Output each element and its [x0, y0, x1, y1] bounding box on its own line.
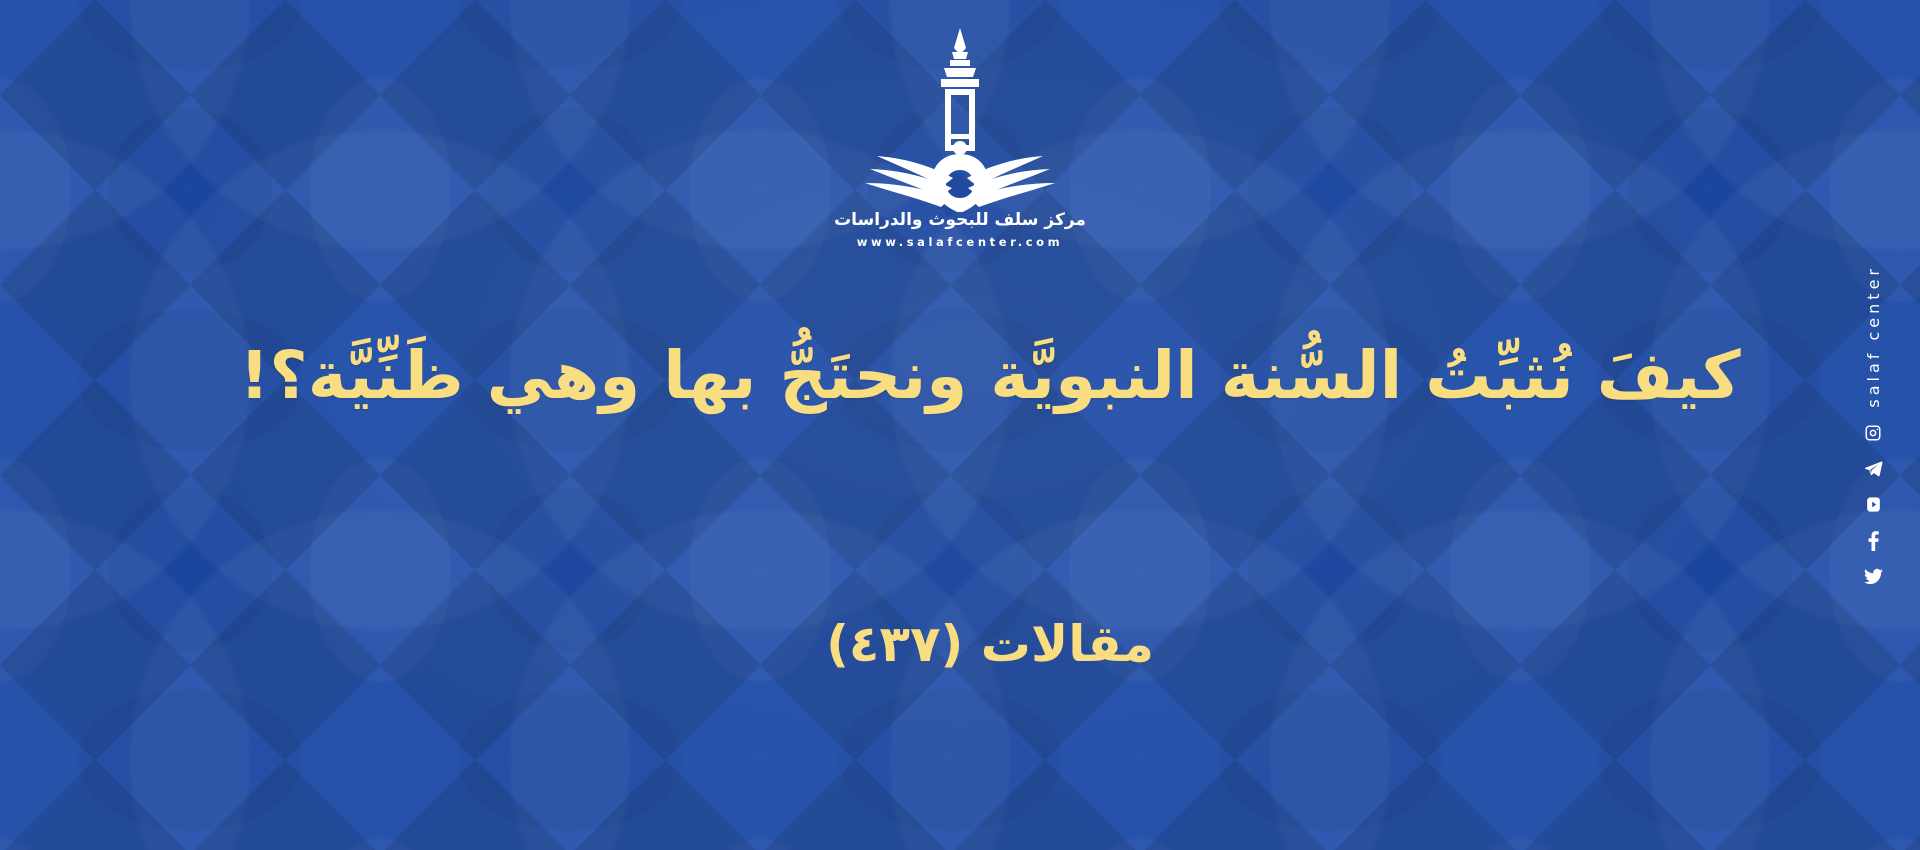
brand-url: www.salafcenter.com: [857, 235, 1063, 249]
minaret-pen-open-book-logo-icon: [835, 22, 1085, 212]
social-icon-list: [1864, 424, 1883, 585]
article-subtitle: مقالات (٤٣٧): [0, 615, 1920, 673]
youtube-icon[interactable]: [1865, 495, 1882, 514]
brand-caption: مركز سلف للبحوث والدراسات: [834, 210, 1086, 230]
article-headline: كيفَ نُثبِّتُ السُّنة النبويَّة ونحتَجُّ…: [0, 330, 1920, 421]
brand-logo[interactable]: مركز سلف للبحوث والدراسات www.salafcente…: [780, 22, 1140, 249]
twitter-icon[interactable]: [1864, 568, 1883, 585]
facebook-icon[interactable]: [1867, 531, 1879, 551]
social-handle-label: salaf center: [1864, 265, 1883, 408]
social-media-rail: salaf center: [1844, 0, 1902, 850]
article-banner: مركز سلف للبحوث والدراسات www.salafcente…: [0, 0, 1920, 850]
telegram-icon[interactable]: [1864, 459, 1883, 478]
instagram-icon[interactable]: [1864, 424, 1882, 442]
